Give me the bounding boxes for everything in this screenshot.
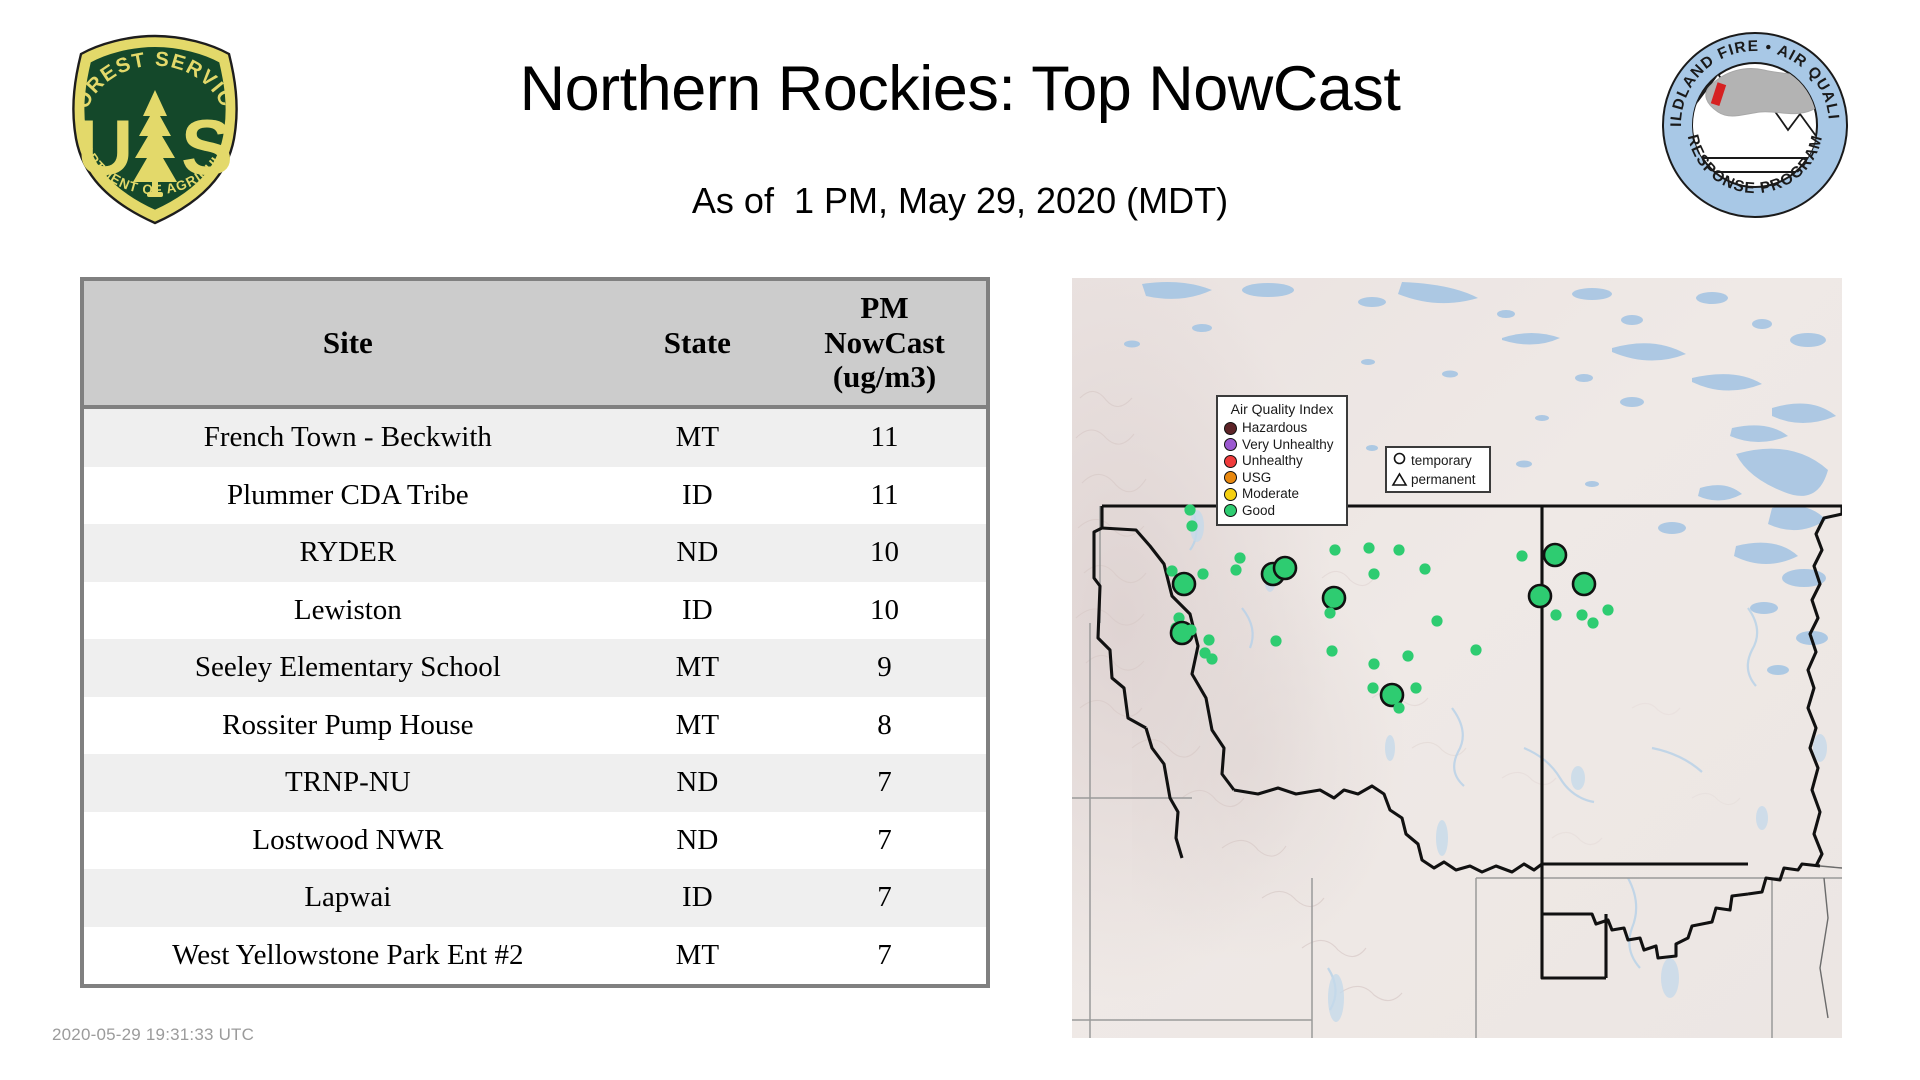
state-cell: MT [612, 407, 783, 467]
state-cell: ND [612, 524, 783, 582]
monitor-marker[interactable] [1367, 682, 1378, 693]
aqi-color-swatch-icon [1224, 471, 1237, 484]
monitor-marker[interactable] [1203, 634, 1214, 645]
aqi-color-swatch-icon [1224, 422, 1237, 435]
table-row: Plummer CDA TribeID11 [84, 467, 986, 525]
column-header-site: Site [84, 281, 612, 407]
state-cell: ND [612, 754, 783, 812]
monitor-marker[interactable] [1326, 645, 1337, 656]
monitor-marker[interactable] [1234, 552, 1245, 563]
pm-header-line-1: PM [787, 291, 982, 326]
state-cell: MT [612, 697, 783, 755]
triangle-icon [1391, 471, 1408, 488]
us-forest-service-logo: FOREST SERVICE DEPARTMENT OF AGRICULTURE… [55, 32, 255, 227]
monitor-marker[interactable] [1186, 520, 1197, 531]
monitor-marker-highlighted[interactable] [1529, 585, 1551, 607]
air-quality-monitor-map[interactable] [1072, 278, 1842, 1038]
monitor-marker[interactable] [1550, 609, 1561, 620]
monitor-marker[interactable] [1602, 604, 1613, 615]
state-cell: ID [612, 467, 783, 525]
site-cell: West Yellowstone Park Ent #2 [84, 927, 612, 985]
pm-nowcast-cell: 7 [783, 927, 986, 985]
aqi-color-swatch-icon [1224, 504, 1237, 517]
svg-text:U: U [77, 103, 133, 191]
pm-nowcast-cell: 11 [783, 467, 986, 525]
monitor-marker-highlighted[interactable] [1573, 573, 1595, 595]
monitor-marker[interactable] [1185, 624, 1196, 635]
monitor-marker[interactable] [1368, 658, 1379, 669]
table-row: West Yellowstone Park Ent #2MT7 [84, 927, 986, 985]
monitor-marker[interactable] [1402, 650, 1413, 661]
aqi-legend-label: Good [1242, 504, 1275, 518]
monitor-marker-highlighted[interactable] [1323, 587, 1345, 609]
legend-label-permanent: permanent [1411, 473, 1476, 487]
aqi-legend-row: Unhealthy [1224, 453, 1340, 470]
nowcast-table: Site State PM NowCast (ug/m3) French Tow… [80, 277, 990, 988]
monitor-marker-highlighted[interactable] [1274, 557, 1296, 579]
monitor-marker[interactable] [1576, 609, 1587, 620]
monitor-marker[interactable] [1516, 550, 1527, 561]
column-header-pm-nowcast: PM NowCast (ug/m3) [783, 281, 986, 407]
monitor-marker-highlighted[interactable] [1544, 544, 1566, 566]
table-row: TRNP-NUND7 [84, 754, 986, 812]
table-row: RYDERND10 [84, 524, 986, 582]
site-cell: Plummer CDA Tribe [84, 467, 612, 525]
column-header-state: State [612, 281, 783, 407]
legend-row-permanent: permanent [1391, 470, 1485, 489]
pm-nowcast-cell: 10 [783, 524, 986, 582]
aqi-legend-row: Hazardous [1224, 420, 1340, 437]
table-row: Seeley Elementary SchoolMT9 [84, 639, 986, 697]
pm-header-line-3: (ug/m3) [787, 360, 982, 395]
monitor-marker-highlighted[interactable] [1173, 573, 1195, 595]
site-cell: French Town - Beckwith [84, 407, 612, 467]
pm-nowcast-cell: 11 [783, 407, 986, 467]
site-cell: Seeley Elementary School [84, 639, 612, 697]
table-header-row: Site State PM NowCast (ug/m3) [84, 281, 986, 407]
page-title: Northern Rockies: Top NowCast [260, 56, 1660, 122]
aqi-legend-row: Moderate [1224, 486, 1340, 503]
circle-icon [1391, 452, 1408, 469]
site-cell: RYDER [84, 524, 612, 582]
monitor-marker[interactable] [1431, 615, 1442, 626]
monitor-marker[interactable] [1324, 607, 1335, 618]
pm-nowcast-cell: 7 [783, 812, 986, 870]
monitor-marker[interactable] [1184, 504, 1195, 515]
table-row: Lostwood NWRND7 [84, 812, 986, 870]
site-cell: Lostwood NWR [84, 812, 612, 870]
svg-text:S: S [181, 103, 233, 191]
aqi-color-swatch-icon [1224, 488, 1237, 501]
aqi-color-swatch-icon [1224, 455, 1237, 468]
table-row: LapwaiID7 [84, 869, 986, 927]
aqi-legend-label: Hazardous [1242, 421, 1307, 435]
monitor-marker[interactable] [1393, 544, 1404, 555]
aqi-legend-title: Air Quality Index [1224, 401, 1340, 418]
state-cell: MT [612, 639, 783, 697]
aqi-legend-label: USG [1242, 471, 1271, 485]
site-cell: Lapwai [84, 869, 612, 927]
pm-nowcast-cell: 7 [783, 754, 986, 812]
monitor-marker[interactable] [1410, 682, 1421, 693]
state-cell: ND [612, 812, 783, 870]
aqi-legend-label: Very Unhealthy [1242, 438, 1334, 452]
table-row: French Town - BeckwithMT11 [84, 407, 986, 467]
pm-nowcast-cell: 10 [783, 582, 986, 640]
monitor-marker[interactable] [1470, 644, 1481, 655]
monitor-marker[interactable] [1393, 702, 1404, 713]
monitor-marker[interactable] [1230, 564, 1241, 575]
aqi-legend: Air Quality Index HazardousVery Unhealth… [1216, 395, 1348, 526]
state-cell: ID [612, 582, 783, 640]
pm-nowcast-cell: 9 [783, 639, 986, 697]
monitor-marker[interactable] [1363, 542, 1374, 553]
page-subtitle: As of 1 PM, May 29, 2020 (MDT) [260, 180, 1660, 222]
table-row: Rossiter Pump HouseMT8 [84, 697, 986, 755]
monitor-marker[interactable] [1197, 568, 1208, 579]
monitor-marker[interactable] [1368, 568, 1379, 579]
site-cell: TRNP-NU [84, 754, 612, 812]
aqi-color-swatch-icon [1224, 438, 1237, 451]
monitor-marker[interactable] [1206, 653, 1217, 664]
aqi-legend-row: USG [1224, 469, 1340, 486]
footer-timestamp: 2020-05-29 19:31:33 UTC [52, 1025, 254, 1045]
monitor-marker[interactable] [1587, 617, 1598, 628]
aqi-legend-row: Good [1224, 502, 1340, 519]
aqi-legend-label: Moderate [1242, 487, 1299, 501]
site-cell: Lewiston [84, 582, 612, 640]
pm-nowcast-cell: 8 [783, 697, 986, 755]
state-cell: MT [612, 927, 783, 985]
pm-nowcast-cell: 7 [783, 869, 986, 927]
aqi-legend-row: Very Unhealthy [1224, 436, 1340, 453]
table-row: LewistonID10 [84, 582, 986, 640]
site-cell: Rossiter Pump House [84, 697, 612, 755]
monitor-marker[interactable] [1270, 635, 1281, 646]
aqi-legend-label: Unhealthy [1242, 454, 1303, 468]
pm-header-line-2: NowCast [787, 326, 982, 361]
legend-row-temporary: temporary [1391, 451, 1485, 470]
monitor-marker[interactable] [1419, 563, 1430, 574]
legend-label-temporary: temporary [1411, 454, 1472, 468]
monitor-type-legend: temporary permanent [1385, 446, 1491, 493]
wildland-fire-air-quality-seal: WILDLAND FIRE • AIR QUALITY RESPONSE PRO… [1660, 30, 1850, 220]
monitor-marker[interactable] [1329, 544, 1340, 555]
state-cell: ID [612, 869, 783, 927]
